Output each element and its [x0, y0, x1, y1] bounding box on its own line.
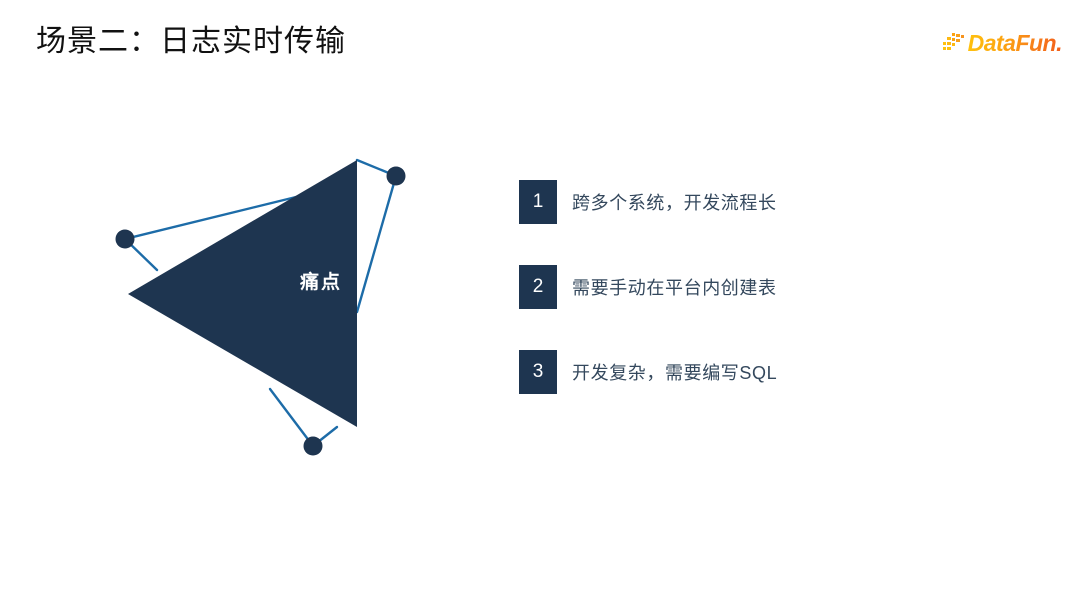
list-item-number-badge: 1: [519, 180, 557, 224]
pain-point-list: 1 跨多个系统，开发流程长 2 需要手动在平台内创建表 3 开发复杂，需要编写S…: [519, 180, 999, 394]
brand-wordmark: DataFun.: [968, 32, 1062, 55]
slide-canvas: 场景二：日志实时传输 DataFun.: [0, 0, 1080, 607]
triangle-shape: [128, 160, 357, 427]
node-bottom: [304, 437, 323, 456]
list-item-number-badge: 3: [519, 350, 557, 394]
list-item[interactable]: 3 开发复杂，需要编写SQL: [519, 350, 999, 394]
node-top-right: [387, 167, 406, 186]
list-item-label: 开发复杂，需要编写SQL: [572, 359, 777, 385]
list-item-label: 需要手动在平台内创建表: [572, 274, 777, 300]
node-left: [116, 230, 135, 249]
datafun-logo: DataFun.: [943, 28, 1062, 58]
list-item[interactable]: 1 跨多个系统，开发流程长: [519, 180, 999, 224]
list-item-number-badge: 2: [519, 265, 557, 309]
page-title: 场景二：日志实时传输: [36, 20, 346, 64]
datafun-dots-icon: [943, 32, 965, 54]
list-item[interactable]: 2 需要手动在平台内创建表: [519, 265, 999, 309]
list-item-label: 跨多个系统，开发流程长: [572, 189, 777, 215]
pain-point-diagram: 痛点: [90, 140, 440, 480]
